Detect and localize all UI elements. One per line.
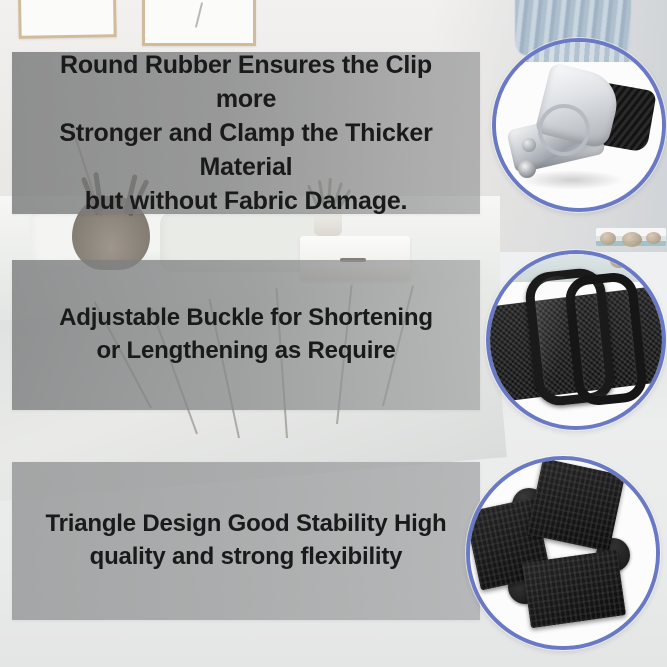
wall-picture-frame [17,0,116,39]
product-photo-triangle [466,456,660,650]
infographic-canvas: Round Rubber Ensures the Clip moreStrong… [0,0,667,667]
feature-caption-clip: Round Rubber Ensures the Clip moreStrong… [12,48,480,218]
product-photo-buckle [486,250,666,430]
wall-picture-frame [142,0,256,46]
pebble [622,232,642,247]
pebble [600,232,616,245]
feature-panel-triangle: Triangle Design Good Stability Highquali… [12,462,480,620]
photo-shadow [520,170,624,190]
feature-panel-clip: Round Rubber Ensures the Clip moreStrong… [12,52,480,214]
feature-caption-buckle: Adjustable Buckle for Shorteningor Lengt… [41,302,451,367]
clip-rivet [522,138,536,152]
strap-arm [522,550,626,629]
pebble [634,254,656,270]
feature-caption-triangle: Triangle Design Good Stability Highquali… [27,508,464,573]
frame-artwork-icon [195,2,203,28]
photo-curtain-backdrop [526,38,634,62]
feature-panel-buckle: Adjustable Buckle for Shorteningor Lengt… [12,260,480,410]
pebble [646,232,661,244]
pebble [610,254,628,268]
clip-rubber-pad [518,160,536,178]
product-photo-clip [492,38,666,212]
